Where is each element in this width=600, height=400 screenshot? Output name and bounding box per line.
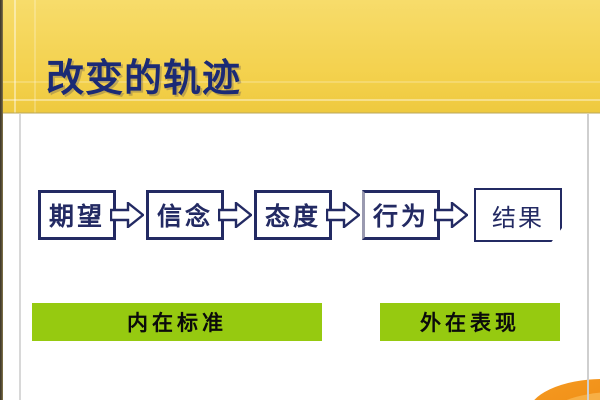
page-title: 改变的轨迹	[46, 59, 241, 97]
flow-node-result[interactable]: 结果	[474, 188, 562, 242]
right-block-arrow-icon-4	[434, 202, 468, 228]
content-guide-line-left	[19, 114, 21, 400]
right-block-arrow-icon-2	[218, 202, 252, 228]
flow-diagram: 期望 信念 态度 行为 结果	[32, 190, 568, 244]
banner-external-expression[interactable]: 外在表现	[380, 303, 560, 341]
slide-canvas: 改变的轨迹 期望 信念 态度 行为 结果 内	[0, 0, 600, 400]
right-block-arrow-icon-1	[110, 202, 144, 228]
flow-node-expectation[interactable]: 期望	[38, 190, 116, 240]
flow-node-belief[interactable]: 信念	[146, 190, 224, 240]
banner-internal-standard[interactable]: 内在标准	[32, 303, 322, 341]
slide-left-edge-strip	[0, 0, 3, 400]
flow-node-attitude[interactable]: 态度	[254, 190, 332, 240]
flow-node-behavior[interactable]: 行为	[362, 190, 440, 240]
content-guide-line-right	[587, 114, 589, 400]
header-underline	[0, 112, 600, 114]
right-block-arrow-icon-3	[326, 202, 360, 228]
